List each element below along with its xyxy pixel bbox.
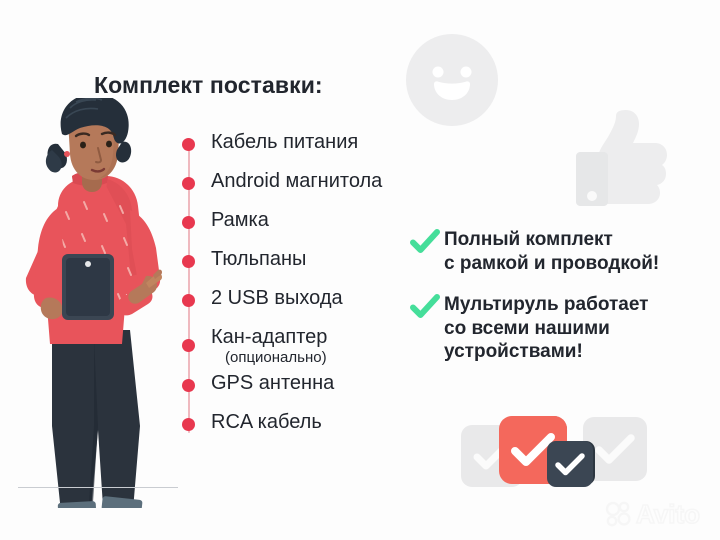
benefits-list: Полный комплект с рамкой и проводкой! Му… (410, 228, 700, 382)
list-item-label: Android магнитола (211, 170, 382, 192)
benefit-line: Полный комплект (444, 228, 659, 252)
svg-text:Avito: Avito (636, 499, 700, 528)
bullet-dot-icon (182, 418, 195, 431)
illustration-woman-pointing (6, 98, 182, 508)
list-item-label: Тюльпаны (211, 248, 306, 270)
list-item-label: Кан-адаптер (211, 326, 327, 348)
bullet-dot-icon (182, 138, 195, 151)
list-item: Android магнитола (176, 169, 426, 208)
kit-list: Кабель питания Android магнитола Рамка Т… (176, 130, 426, 449)
benefit-line: Мультируль работает (444, 293, 648, 317)
list-item-sublabel: (опционально) (225, 349, 327, 366)
bullet-dot-icon (182, 255, 195, 268)
benefit-line: устройствами! (444, 340, 648, 364)
list-item-label: Кабель питания (211, 131, 358, 153)
list-item: GPS антенна (176, 371, 426, 410)
benefit-line: с рамкой и проводкой! (444, 252, 659, 276)
list-item: Тюльпаны (176, 247, 426, 286)
list-item: Кан-адаптер (опционально) (176, 325, 426, 371)
bullet-dot-icon (182, 294, 195, 307)
benefit-item: Мультируль работает со всеми нашими устр… (410, 293, 700, 364)
benefit-item: Полный комплект с рамкой и проводкой! (410, 228, 700, 275)
list-item-label: 2 USB выхода (211, 287, 343, 309)
benefit-text: Полный комплект с рамкой и проводкой! (444, 228, 659, 275)
page-title: Комплект поставки: (94, 72, 323, 99)
bullet-dot-icon (182, 339, 195, 352)
list-item: 2 USB выхода (176, 286, 426, 325)
checkbox-cards-graphic (455, 408, 645, 493)
checkbox-card-dark (547, 441, 593, 487)
smiley-face-icon (404, 32, 500, 128)
bullet-dot-icon (182, 216, 195, 229)
list-item-label: Рамка (211, 209, 269, 231)
list-item: Кабель питания (176, 130, 426, 169)
avito-watermark: Avito (602, 498, 706, 528)
bullet-dot-icon (182, 379, 195, 392)
list-item: Рамка (176, 208, 426, 247)
bullet-dot-icon (182, 177, 195, 190)
list-item-label: RCA кабель (211, 411, 322, 433)
slide-canvas: Avito Комплект поставки: Кабель питания … (0, 0, 720, 540)
list-item-label: GPS антенна (211, 372, 334, 394)
check-mark-icon (410, 294, 440, 320)
benefit-text: Мультируль работает со всеми нашими устр… (444, 293, 648, 364)
ground-line (18, 487, 178, 488)
check-mark-icon (410, 229, 440, 255)
list-item: RCA кабель (176, 410, 426, 449)
benefit-line: со всеми нашими (444, 317, 648, 341)
thumbs-up-icon (568, 104, 684, 214)
